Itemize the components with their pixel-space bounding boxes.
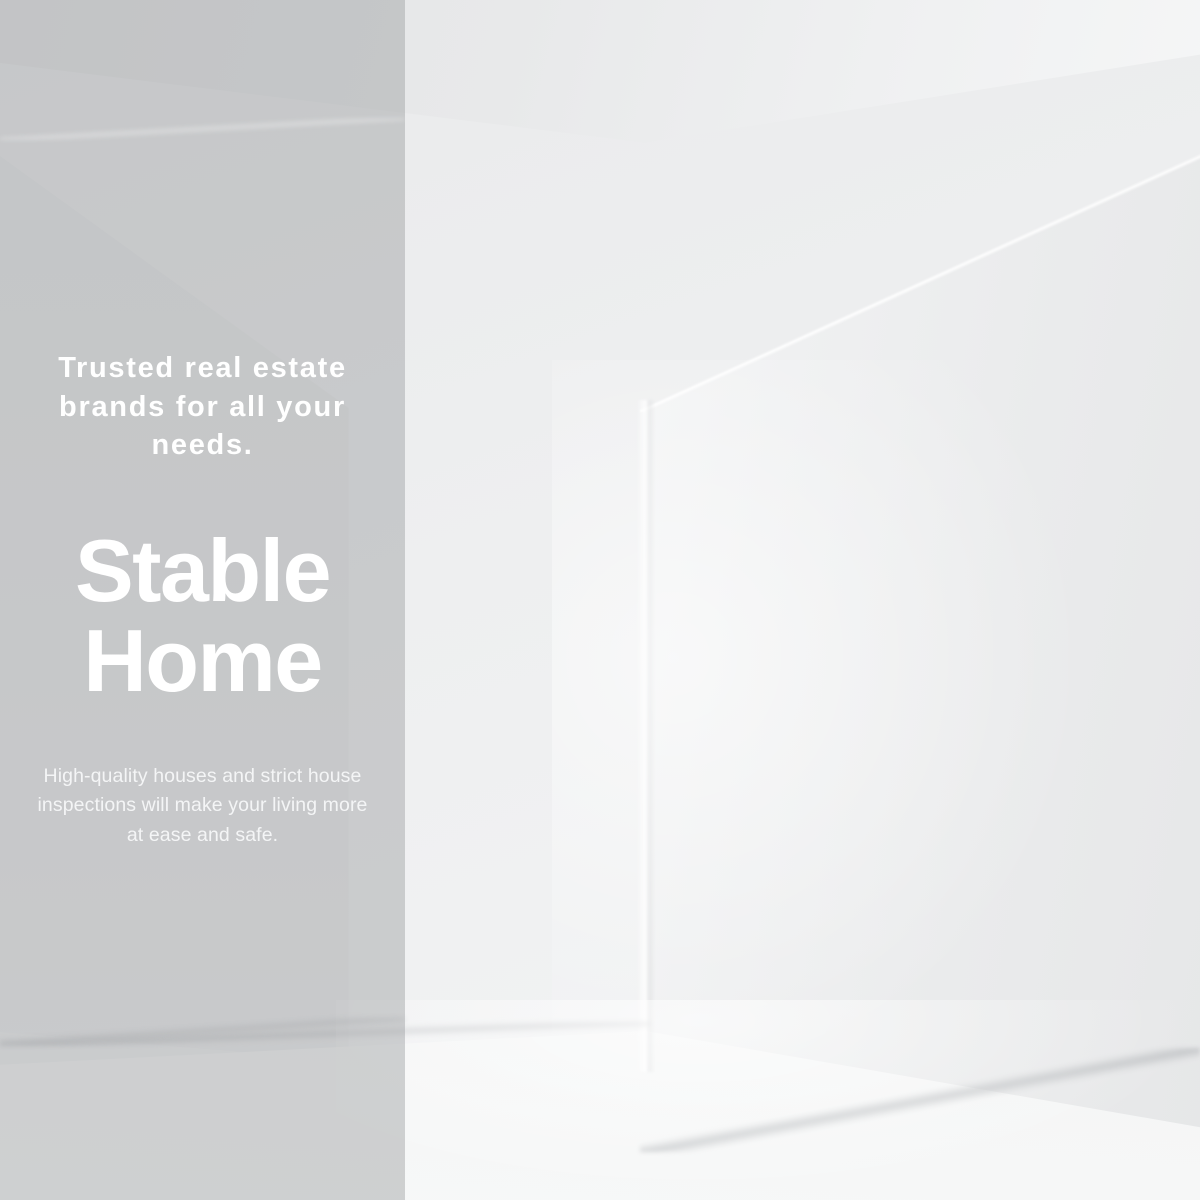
headline-line-1: Stable — [33, 526, 373, 616]
floor-light-sheen — [336, 1000, 1200, 1200]
copy-block: Trusted real estate brands for all your … — [0, 0, 405, 1200]
ambient-light-glow — [552, 360, 1104, 1104]
headline: Stable Home — [33, 526, 373, 706]
description-paragraph: High-quality houses and strict house ins… — [38, 762, 368, 851]
eyebrow-tagline: Trusted real estate brands for all your … — [38, 349, 368, 464]
poster-canvas: Trusted real estate brands for all your … — [0, 0, 1200, 1200]
headline-line-2: Home — [33, 616, 373, 706]
